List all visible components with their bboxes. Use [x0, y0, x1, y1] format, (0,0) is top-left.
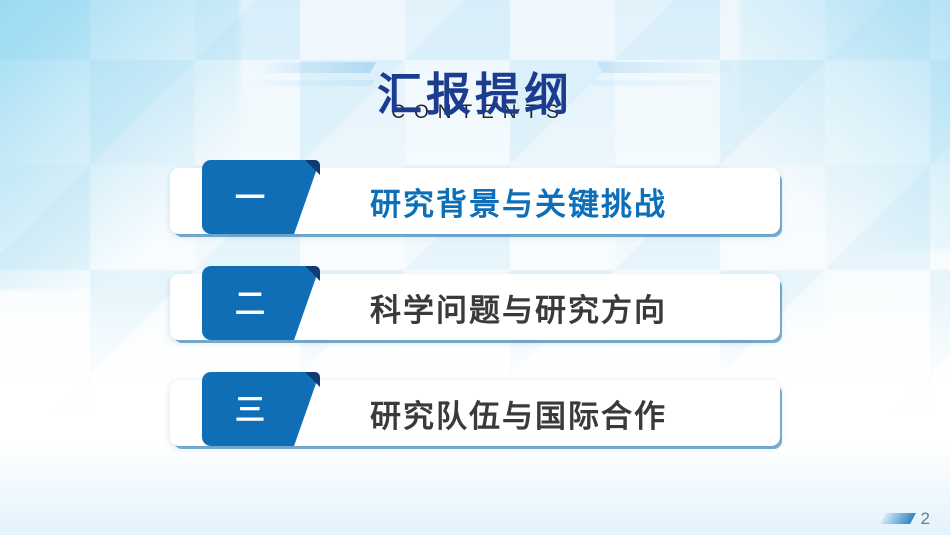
slide-contents: 汇报提纲 CONTENTS 一 研究背景与关键挑战 二 科学问题与研究方向 [0, 0, 950, 535]
decoration-bar [262, 62, 376, 73]
contents-number-badge: 三 [202, 372, 320, 446]
title-row: 汇报提纲 [0, 34, 950, 96]
list-item[interactable]: 三 研究队伍与国际合作 [170, 380, 780, 446]
contents-item-label: 研究背景与关键挑战 [370, 168, 667, 234]
decoration-bar [597, 62, 735, 73]
slide-header: 汇报提纲 CONTENTS [0, 34, 950, 124]
page-title: 汇报提纲 [377, 64, 573, 126]
contents-number-badge: 一 [202, 160, 320, 234]
contents-list: 一 研究背景与关键挑战 二 科学问题与研究方向 三 研究队伍与国际合作 [170, 168, 780, 486]
title-decoration-right [588, 60, 738, 92]
decoration-bar [253, 80, 374, 86]
page-number: 2 [883, 510, 930, 527]
badge-number: 三 [202, 372, 298, 446]
badge-number: 一 [202, 160, 298, 234]
list-item[interactable]: 一 研究背景与关键挑战 [170, 168, 780, 234]
contents-number-badge: 二 [202, 266, 320, 340]
list-item[interactable]: 二 科学问题与研究方向 [170, 274, 780, 340]
title-decoration-left [255, 60, 375, 92]
contents-item-label: 研究队伍与国际合作 [370, 380, 667, 446]
page-number-text: 2 [921, 510, 930, 527]
decoration-bar [590, 80, 739, 86]
page-number-marker-icon [880, 513, 916, 524]
contents-item-label: 科学问题与研究方向 [370, 274, 667, 340]
badge-number: 二 [202, 266, 298, 340]
